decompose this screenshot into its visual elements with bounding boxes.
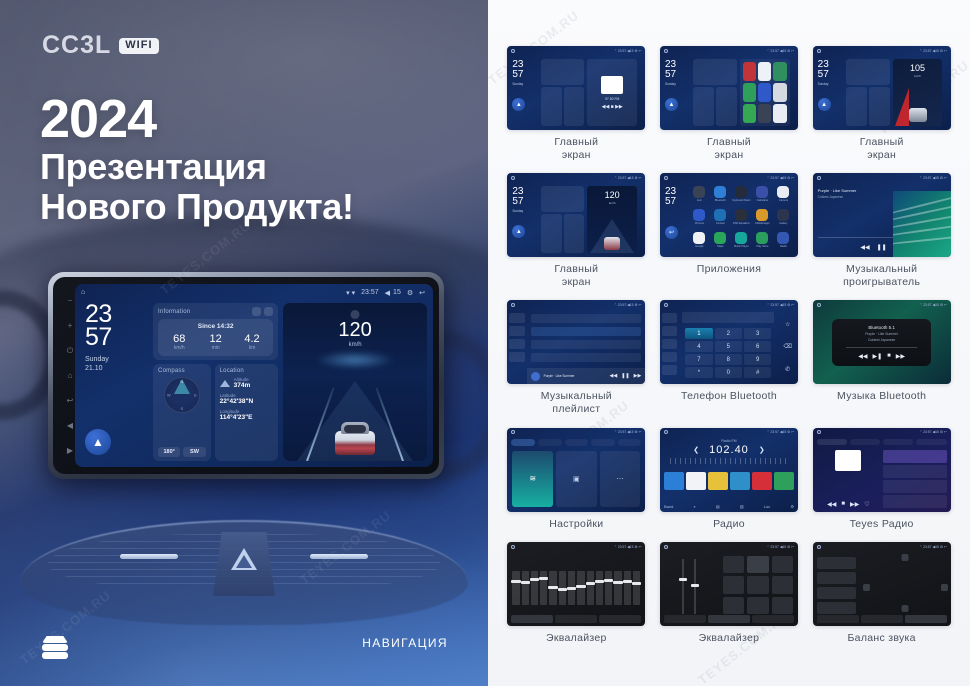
pause-icon[interactable]: ❚❚ xyxy=(877,244,887,251)
station-row[interactable] xyxy=(883,450,946,463)
eq-band[interactable] xyxy=(549,571,556,606)
altitude-row: Altitude 374m xyxy=(220,377,274,389)
wifi-icon[interactable]: ▾ ▾ xyxy=(346,289,355,297)
trip-distance-unit: km xyxy=(234,345,270,351)
screenshot-grid: ⌃ 23:57 ◀15 ⚙ ↩ 23 57 Sunday ▲ xyxy=(504,46,954,653)
car-body-shape xyxy=(335,431,375,455)
altitude-value: 374m xyxy=(234,382,251,389)
preset-tile[interactable] xyxy=(723,576,744,593)
hero-year: 2024 xyxy=(40,92,354,147)
thumbnail-home-hud-red[interactable]: ⌃ 23:57 ◀15 ⚙ ↩ 23 57 Sunday ▲ 105 xyxy=(813,46,951,130)
side-key-volume-up[interactable]: + xyxy=(68,322,73,330)
preset-tile[interactable] xyxy=(708,472,728,490)
key-2[interactable]: 2 xyxy=(715,328,742,339)
clock-minutes: 57 xyxy=(85,326,148,349)
slider[interactable] xyxy=(694,559,696,614)
eq-band[interactable] xyxy=(512,571,519,606)
latitude-row: Latitude 22°42'38"N xyxy=(220,393,274,405)
gallery-item[interactable]: ⌃ 23:57 ◀15 ⚙ ↩ Radio FM ❮ 102.40 ❯ xyxy=(657,428,802,539)
product-logo: CC3L WIFI xyxy=(42,33,159,58)
app-tile[interactable]: Camera xyxy=(774,186,793,207)
key-4[interactable]: 4 xyxy=(685,341,712,352)
trip-stat-time: 12 min xyxy=(197,333,233,351)
gear-icon[interactable]: ⚙ xyxy=(407,289,413,297)
gallery-item[interactable]: ⌃ 23:57 ◀15 ⚙ ↩ 23 57 ↩ Avin Bluetooth K… xyxy=(657,173,802,296)
settings-cards[interactable]: ≋ ▣ ⋯ xyxy=(512,451,640,507)
radio-toolbar[interactable]: Band ⌕ ▤ ▥ Loc ⚙ xyxy=(664,504,794,509)
play-icon[interactable]: ▶❚ xyxy=(873,353,883,360)
trip-speed-unit: km/h xyxy=(161,345,197,351)
app-tile[interactable]: FileManager xyxy=(753,209,772,230)
bluetooth-title: Bluetooth 5.1 xyxy=(868,325,895,330)
teyes-radio-nowplaying: ◀◀ ■ ▶▶ ♡ xyxy=(817,450,880,508)
gallery-caption: Главныйэкран xyxy=(860,136,904,161)
gallery-item[interactable]: ⌃ 23:57 ◀15 ⚙ ↩ xyxy=(504,542,649,653)
gallery-item[interactable]: ⌃ 23:57 ◀15 ⚙ ↩ ◀◀ ■ ▶▶ ♡ xyxy=(809,428,954,539)
thumb-hud-speed: 105 xyxy=(893,63,943,73)
balance-right-button[interactable] xyxy=(941,584,948,591)
balance-left-button[interactable] xyxy=(863,584,870,591)
key-star[interactable]: * xyxy=(685,367,712,378)
dashboard-vents xyxy=(20,520,468,625)
key-hash[interactable]: # xyxy=(744,367,771,378)
eq-band[interactable] xyxy=(568,571,575,606)
navigation-fab-button[interactable]: ▲ xyxy=(85,429,111,455)
loc-button[interactable]: Loc xyxy=(764,504,770,509)
thumbnail-teyes-radio[interactable]: ⌃ 23:57 ◀15 ⚙ ↩ ◀◀ ■ ▶▶ ♡ xyxy=(813,428,951,512)
gallery-caption: Музыкальныйпроигрыватель xyxy=(843,263,920,288)
clock-datenum: 21.10 xyxy=(85,364,148,373)
thumb-clock-minutes: 57 xyxy=(665,197,685,207)
eq-band[interactable] xyxy=(540,571,547,606)
side-key-power[interactable]: ⏻ xyxy=(67,347,73,355)
gallery-caption: Главныйэкран xyxy=(707,136,751,161)
thumb-hud-unit: km/h xyxy=(587,201,637,205)
car-window-shape xyxy=(344,425,366,433)
music-visualizer xyxy=(893,191,951,257)
teyes-radio-tabs[interactable] xyxy=(817,439,947,445)
prev-icon[interactable]: ◀◀ xyxy=(610,373,618,379)
compass-south: S xyxy=(180,406,183,411)
thumb-clock-minutes: 57 xyxy=(512,197,537,207)
dial-input[interactable] xyxy=(682,312,774,323)
radio-next-icon[interactable]: ❯ xyxy=(759,446,765,454)
thumb-clock-day: Sunday xyxy=(512,209,537,213)
radio-prev-icon[interactable]: ❮ xyxy=(693,446,699,454)
widget-row-bottom: Compass N S W E xyxy=(153,364,278,461)
hud-car-model xyxy=(335,421,375,455)
gallery-item[interactable]: ⌃ 23:57 ◀15 ⚙ ↩ Bluetooth 5.1 Purple · L… xyxy=(809,300,954,423)
gallery-caption: Главныйэкран xyxy=(554,136,598,161)
more-icon[interactable]: ⋯ xyxy=(600,451,641,507)
trip-since-label: Since 14:32 xyxy=(161,323,270,330)
thumbnail-bluetooth-phone[interactable]: ⌃ 23:57 ◀15 ⚙ ↩ 1 2 3 4 5 6 xyxy=(660,300,798,384)
hero-title-line2: Нового Продукта! xyxy=(40,187,354,227)
carplay-icon[interactable]: ▣ xyxy=(556,451,597,507)
app-tile[interactable]: Gallery xyxy=(774,209,793,230)
equalizer-band-sliders[interactable] xyxy=(507,551,645,615)
prev-icon[interactable]: ◀◀ xyxy=(827,501,836,508)
gallery-item[interactable]: ⌃ 23:57 ◀15 ⚙ ↩ xyxy=(809,542,954,653)
gallery-caption: Телефон Bluetooth xyxy=(681,390,777,403)
prev-icon[interactable]: ◀◀ xyxy=(858,353,867,360)
gallery-panel: TEYES.COM.RU TEYES.COM.RU TEYES.COM.RU T… xyxy=(488,0,970,686)
thumb-clock-minutes: 57 xyxy=(818,70,843,80)
home-left-column: 23 57 Sunday 21.10 ▲ xyxy=(81,303,278,461)
gallery-item[interactable]: ⌃ 23:57 ◀15 ⚙ ↩ Purple · Like Summer ◀◀ xyxy=(504,300,649,423)
station-row[interactable] xyxy=(883,480,946,493)
thumb-nav-fab[interactable]: ▲ xyxy=(512,98,525,111)
preset-tile[interactable] xyxy=(752,472,772,490)
trip-stat-speed: 68 km/h xyxy=(161,333,197,351)
list-icon[interactable]: ▤ xyxy=(716,504,720,509)
compass-north: N xyxy=(180,379,183,384)
favorite-icon[interactable]: ☆ xyxy=(785,321,790,328)
eq-band[interactable] xyxy=(624,571,631,606)
hero-footer: НАВИГАЦИЯ xyxy=(0,624,488,686)
app-tile[interactable]: Keyboard Down xyxy=(732,186,751,207)
navigation-label: НАВИГАЦИЯ xyxy=(362,636,448,650)
location-label: Location xyxy=(220,368,274,374)
eq-tab[interactable] xyxy=(708,615,750,623)
status-time: 23:57 xyxy=(361,289,379,296)
head-unit-bezel: ⌂ ▾ ▾ 23:57 ◀ 15 ⚙ ↩ 23 57 xyxy=(48,272,444,479)
mountain-icon xyxy=(220,380,230,387)
eq-band[interactable] xyxy=(587,571,594,606)
app-tile[interactable]: Contact xyxy=(711,209,730,230)
fader-down-button[interactable] xyxy=(902,605,909,612)
head-unit-screen[interactable]: ⌂ ▾ ▾ 23:57 ◀ 15 ⚙ ↩ 23 57 xyxy=(75,284,433,467)
home-icon[interactable]: ⌂ xyxy=(81,289,85,296)
thumb-hud-unit: km/h xyxy=(893,74,943,78)
hud-speed-widget[interactable]: 120 km/h xyxy=(283,303,427,461)
clock-widget[interactable]: 23 57 Sunday 21.10 ▲ xyxy=(81,303,148,461)
preset-tile[interactable] xyxy=(664,472,684,490)
gallery-caption: Музыкальныйплейлист xyxy=(541,390,612,415)
compass-dial: N S W E xyxy=(164,377,200,413)
vent-bar-left xyxy=(120,554,178,559)
trip-distance-value: 4.2 xyxy=(234,333,270,345)
gallery-caption: Радио xyxy=(713,518,745,531)
bluetooth-track: Purple · Like Summer xyxy=(865,332,898,336)
thumb-nav-fab[interactable]: ▲ xyxy=(665,98,678,111)
eq-band[interactable] xyxy=(559,571,566,606)
side-key-volume-down[interactable]: − xyxy=(68,297,73,305)
side-key-next[interactable]: ▶ xyxy=(67,447,73,455)
gallery-item[interactable]: ⌃ 23:57 ◀15 ⚙ ↩ 23 57 Sunday ▲ 105 xyxy=(809,46,954,169)
hud-speed-value: 120 xyxy=(283,320,427,340)
eq-tab[interactable] xyxy=(905,615,947,623)
thumbnail-equalizer-sliders[interactable]: ⌃ 23:57 ◀15 ⚙ ↩ xyxy=(660,542,798,626)
gallery-caption: Приложения xyxy=(697,263,761,276)
phone-actions[interactable]: ☆ ⌫ ✆ xyxy=(777,309,798,384)
preset-tile[interactable] xyxy=(723,597,744,614)
eq-band[interactable] xyxy=(633,571,640,606)
vent-bar-right xyxy=(310,554,368,559)
trip-summary: Since 14:32 68 km/h 12 xyxy=(158,319,273,356)
radio-dial-scale[interactable] xyxy=(670,458,788,464)
thumbnail-music-player[interactable]: ⌃ 23:57 ◀15 ⚙ ↩ Purple · Like Summer Col… xyxy=(813,173,951,257)
thumb-clock-minutes: 57 xyxy=(665,70,690,80)
longitude-row: Longitude 114°4'23"E xyxy=(220,409,274,421)
thumbnail-apps[interactable]: ⌃ 23:57 ◀15 ⚙ ↩ 23 57 ↩ Avin Bluetooth K… xyxy=(660,173,798,257)
preset-tile[interactable] xyxy=(774,472,794,490)
compass-direction-value: SW xyxy=(183,447,205,457)
settings-icon[interactable]: ⚙ xyxy=(790,504,794,509)
gallery-caption: Главныйэкран xyxy=(554,263,598,288)
settings-tabs[interactable] xyxy=(511,439,641,446)
longitude-value: 114°4'23"E xyxy=(220,414,274,421)
logo-wifi-badge: WIFI xyxy=(119,38,158,54)
gallery-caption: Настройки xyxy=(549,518,603,531)
key-8[interactable]: 8 xyxy=(715,354,742,365)
equalizer-tabs[interactable] xyxy=(817,615,947,623)
app-tile[interactable]: Google xyxy=(690,232,709,253)
thumbnail-home-media[interactable]: ⌃ 23:57 ◀15 ⚙ ↩ 23 57 Sunday ▲ xyxy=(507,46,645,130)
thumbnail-home-apps[interactable]: ⌃ 23:57 ◀15 ⚙ ↩ 23 57 Sunday ▲ xyxy=(660,46,798,130)
gallery-item[interactable]: ⌃ 23:57 ◀15 ⚙ ↩ ≋ ▣ ⋯ Настр xyxy=(504,428,649,539)
preset-tile[interactable] xyxy=(747,556,768,573)
trip-time-unit: min xyxy=(197,345,233,351)
side-key-back[interactable]: ↩ xyxy=(67,397,74,405)
hazard-button[interactable] xyxy=(227,544,261,574)
fader-up-button[interactable] xyxy=(902,554,909,561)
eq-tab[interactable] xyxy=(599,615,641,623)
key-6[interactable]: 6 xyxy=(744,341,771,352)
app-tile[interactable]: Radio xyxy=(774,232,793,253)
backspace-icon[interactable]: ⌫ xyxy=(783,343,791,350)
head-unit-frame: ⌂ ▾ ▾ 23:57 ◀ 15 ⚙ ↩ 23 57 xyxy=(53,277,439,474)
compass-heading-value: 180° xyxy=(158,447,180,457)
band-button[interactable]: Band xyxy=(664,504,673,509)
compass-west: W xyxy=(167,393,171,398)
location-widget[interactable]: Location Altitude 374m xyxy=(215,364,279,461)
eq-tab[interactable] xyxy=(817,615,859,623)
call-icon[interactable]: ✆ xyxy=(785,366,790,373)
trip-time-value: 12 xyxy=(197,333,233,345)
hero-panel: CC3L WIFI 2024 Презентация Нового Продук… xyxy=(0,0,488,686)
key-5[interactable]: 5 xyxy=(715,341,742,352)
hazard-triangle-icon xyxy=(231,548,257,570)
phone-keypad[interactable]: 1 2 3 4 5 6 7 8 9 * 0 # xyxy=(682,325,774,381)
bluetooth-artist: Coldest Japanese xyxy=(868,338,895,342)
eq-tab[interactable] xyxy=(664,615,706,623)
thumbnail-home-hud[interactable]: ⌃ 23:57 ◀15 ⚙ ↩ 23 57 Sunday ▲ 120 xyxy=(507,173,645,257)
status-bar: ⌂ ▾ ▾ 23:57 ◀ 15 ⚙ ↩ xyxy=(75,284,433,301)
playlist-sidebar[interactable] xyxy=(507,309,526,384)
thumb-clock-day: Sunday xyxy=(665,82,690,86)
app-tile[interactable]: Maps xyxy=(711,232,730,253)
hud-speed-unit: km/h xyxy=(283,342,427,348)
page-title: 2024 Презентация Нового Продукта! xyxy=(40,92,354,228)
hud-icon xyxy=(351,310,360,319)
gallery-item[interactable]: ⌃ 23:57 ◀15 ⚙ ↩ 23 57 Sunday ▲ xyxy=(504,46,649,169)
side-key-prev[interactable]: ◀ xyxy=(67,422,73,430)
widget-stack: Information Since 14:32 xyxy=(153,303,278,461)
track-row[interactable] xyxy=(531,327,642,336)
compass-widget[interactable]: Compass N S W E xyxy=(153,364,211,461)
wifi-icon[interactable]: ≋ xyxy=(512,451,553,507)
progress-bar[interactable] xyxy=(846,347,918,348)
eq-band[interactable] xyxy=(577,571,584,606)
thumb-back-button[interactable]: ↩ xyxy=(665,226,678,239)
key-1[interactable]: 1 xyxy=(685,328,712,339)
pause-icon[interactable]: ❚❚ xyxy=(621,373,629,379)
stop-icon[interactable]: ■ xyxy=(887,353,891,360)
key-9[interactable]: 9 xyxy=(744,354,771,365)
gallery-item[interactable]: ⌃ 23:57 ◀15 ⚙ ↩ Purple · Like Summer Col… xyxy=(809,173,954,296)
now-playing-title: Purple · Like Summer xyxy=(544,374,575,378)
logo-model-text: CC3L xyxy=(42,33,111,58)
equalizer-tabs[interactable] xyxy=(664,615,794,623)
thumbnail-radio[interactable]: ⌃ 23:57 ◀15 ⚙ ↩ Radio FM ❮ 102.40 ❯ xyxy=(660,428,798,512)
track-row[interactable] xyxy=(531,340,642,349)
eq-tab[interactable] xyxy=(555,615,597,623)
gallery-item[interactable]: ⌃ 23:57 ◀15 ⚙ ↩ 23 57 Sunday ▲ xyxy=(657,46,802,169)
home-screen-body: 23 57 Sunday 21.10 ▲ xyxy=(75,301,433,467)
preset-tile[interactable] xyxy=(747,576,768,593)
thumb-clock-day: Sunday xyxy=(512,82,537,86)
side-key-home[interactable]: ⌂ xyxy=(68,372,73,380)
station-row[interactable] xyxy=(883,495,946,508)
gallery-item[interactable]: ⌃ 23:57 ◀15 ⚙ ↩ 1 2 3 4 5 6 xyxy=(657,300,802,423)
stop-icon[interactable]: ■ xyxy=(841,501,845,508)
app-tile[interactable]: Calculator xyxy=(753,186,772,207)
eq-band[interactable] xyxy=(596,571,603,606)
radio-presets[interactable] xyxy=(660,472,798,490)
back-icon[interactable]: ↩ xyxy=(419,289,425,297)
thumb-hud-speed: 120 xyxy=(587,190,637,200)
eq-band[interactable] xyxy=(522,571,529,606)
hud-horizon-glow xyxy=(315,351,395,369)
preset-tile[interactable] xyxy=(747,597,768,614)
phone-sidebar[interactable] xyxy=(660,309,679,384)
key-0[interactable]: 0 xyxy=(715,367,742,378)
radio-band: Radio FM xyxy=(660,439,798,443)
thumbnail-equalizer-bars[interactable]: ⌃ 23:57 ◀15 ⚙ ↩ xyxy=(507,542,645,626)
compass-values: 180° SW xyxy=(158,447,206,457)
eq-tab[interactable] xyxy=(511,615,553,623)
thumb-clock-minutes: 57 xyxy=(512,70,537,80)
clock-date: Sunday 21.10 xyxy=(85,355,148,374)
next-icon[interactable]: ▶▶ xyxy=(896,353,905,360)
favorite-icon[interactable]: ♡ xyxy=(864,501,869,508)
eq-tab[interactable] xyxy=(861,615,903,623)
preset-tile[interactable] xyxy=(730,472,750,490)
app-tile[interactable]: Avin xyxy=(690,186,709,207)
radio-frequency: 102.40 xyxy=(709,444,749,456)
bluetooth-music-card: Bluetooth 5.1 Purple · Like Summer Colde… xyxy=(832,319,931,366)
equalizer-tabs[interactable] xyxy=(507,615,645,626)
preset-tile[interactable] xyxy=(772,597,793,614)
clock-weekday: Sunday xyxy=(85,355,148,364)
information-widget[interactable]: Information Since 14:32 xyxy=(153,303,278,360)
gallery-caption: Музыка Bluetooth xyxy=(837,390,926,403)
head-unit-side-buttons[interactable]: − + ⏻ ⌂ ↩ ◀ ▶ xyxy=(61,288,79,463)
app-tile[interactable]: DSP Equalizer xyxy=(732,209,751,230)
preset-tile[interactable] xyxy=(723,556,744,573)
slider[interactable] xyxy=(682,559,684,614)
next-icon[interactable]: ▶▶ xyxy=(634,373,642,379)
preset-row[interactable] xyxy=(817,602,856,614)
preset-row[interactable] xyxy=(817,587,856,599)
eq-band[interactable] xyxy=(614,571,621,606)
eq-band[interactable] xyxy=(605,571,612,606)
gallery-item[interactable]: ⌃ 23:57 ◀15 ⚙ ↩ 23 57 Sunday ▲ 120 xyxy=(504,173,649,296)
refresh-icon[interactable] xyxy=(252,307,261,316)
playback-controls[interactable]: ◀◀ ■ ▶▶ ♡ xyxy=(827,501,869,508)
key-3[interactable]: 3 xyxy=(744,328,771,339)
expand-icon[interactable] xyxy=(264,307,273,316)
trip-speed-value: 68 xyxy=(161,333,197,345)
search-icon[interactable]: ⌕ xyxy=(693,504,695,509)
track-row[interactable] xyxy=(531,353,642,362)
thumb-nav-fab[interactable]: ▲ xyxy=(818,98,831,111)
eq-tab[interactable] xyxy=(752,615,794,623)
gallery-caption: Баланс звука xyxy=(847,632,915,645)
eq-icon[interactable]: ▥ xyxy=(740,504,744,509)
layers-icon[interactable] xyxy=(42,636,68,658)
app-tile[interactable]: Play Store xyxy=(753,232,772,253)
mini-player-bar[interactable]: Purple · Like Summer ◀◀ ❚❚ ▶▶ xyxy=(527,368,646,384)
next-icon[interactable]: ▶▶ xyxy=(850,501,859,508)
thumbnail-playlist[interactable]: ⌃ 23:57 ◀15 ⚙ ↩ Purple · Like Summer ◀◀ xyxy=(507,300,645,384)
app-grid[interactable]: Avin Bluetooth Keyboard Down Calculator … xyxy=(685,182,798,257)
preset-row[interactable] xyxy=(817,557,856,569)
preset-tile[interactable] xyxy=(772,556,793,573)
thumb-nav-fab[interactable]: ▲ xyxy=(512,225,525,238)
gallery-caption: Эквалайзер xyxy=(699,632,760,645)
gallery-caption: Teyes Радио xyxy=(850,518,914,531)
hero-title-line1: Презентация xyxy=(40,147,354,187)
compass-label: Compass xyxy=(158,368,206,374)
app-tile[interactable]: Chrome xyxy=(690,209,709,230)
compass-east: E xyxy=(194,393,197,398)
app-tile[interactable]: Music Player xyxy=(732,232,751,253)
station-row[interactable] xyxy=(883,465,946,478)
app-tile[interactable]: Bluetooth xyxy=(711,186,730,207)
thumbnail-bluetooth-music[interactable]: ⌃ 23:57 ◀15 ⚙ ↩ Bluetooth 5.1 Purple · L… xyxy=(813,300,951,384)
eq-band[interactable] xyxy=(531,571,538,606)
gallery-item[interactable]: ⌃ 23:57 ◀15 ⚙ ↩ xyxy=(657,542,802,653)
gallery-caption: Эквалайзер xyxy=(546,632,607,645)
preset-row[interactable] xyxy=(817,572,856,584)
track-row[interactable] xyxy=(531,314,642,323)
key-7[interactable]: 7 xyxy=(685,354,712,365)
volume-indicator[interactable]: ◀ 15 xyxy=(385,289,401,297)
preset-tile[interactable] xyxy=(686,472,706,490)
thumb-clock-day: Sunday xyxy=(818,82,843,86)
playback-controls[interactable]: ◀◀ ▶❚ ■ ▶▶ xyxy=(858,353,905,360)
latitude-value: 22°42'38"N xyxy=(220,398,274,405)
thumbnail-sound-balance[interactable]: ⌃ 23:57 ◀15 ⚙ ↩ xyxy=(813,542,951,626)
thumbnail-settings[interactable]: ⌃ 23:57 ◀15 ⚙ ↩ ≋ ▣ ⋯ xyxy=(507,428,645,512)
information-header: Information xyxy=(158,307,273,316)
trip-stat-distance: 4.2 km xyxy=(234,333,270,351)
information-label: Information xyxy=(158,309,190,315)
prev-icon[interactable]: ◀◀ xyxy=(860,244,869,251)
trip-stats: 68 km/h 12 min xyxy=(161,333,270,351)
preset-tile[interactable] xyxy=(772,576,793,593)
teyes-radio-station-list[interactable] xyxy=(883,450,946,508)
